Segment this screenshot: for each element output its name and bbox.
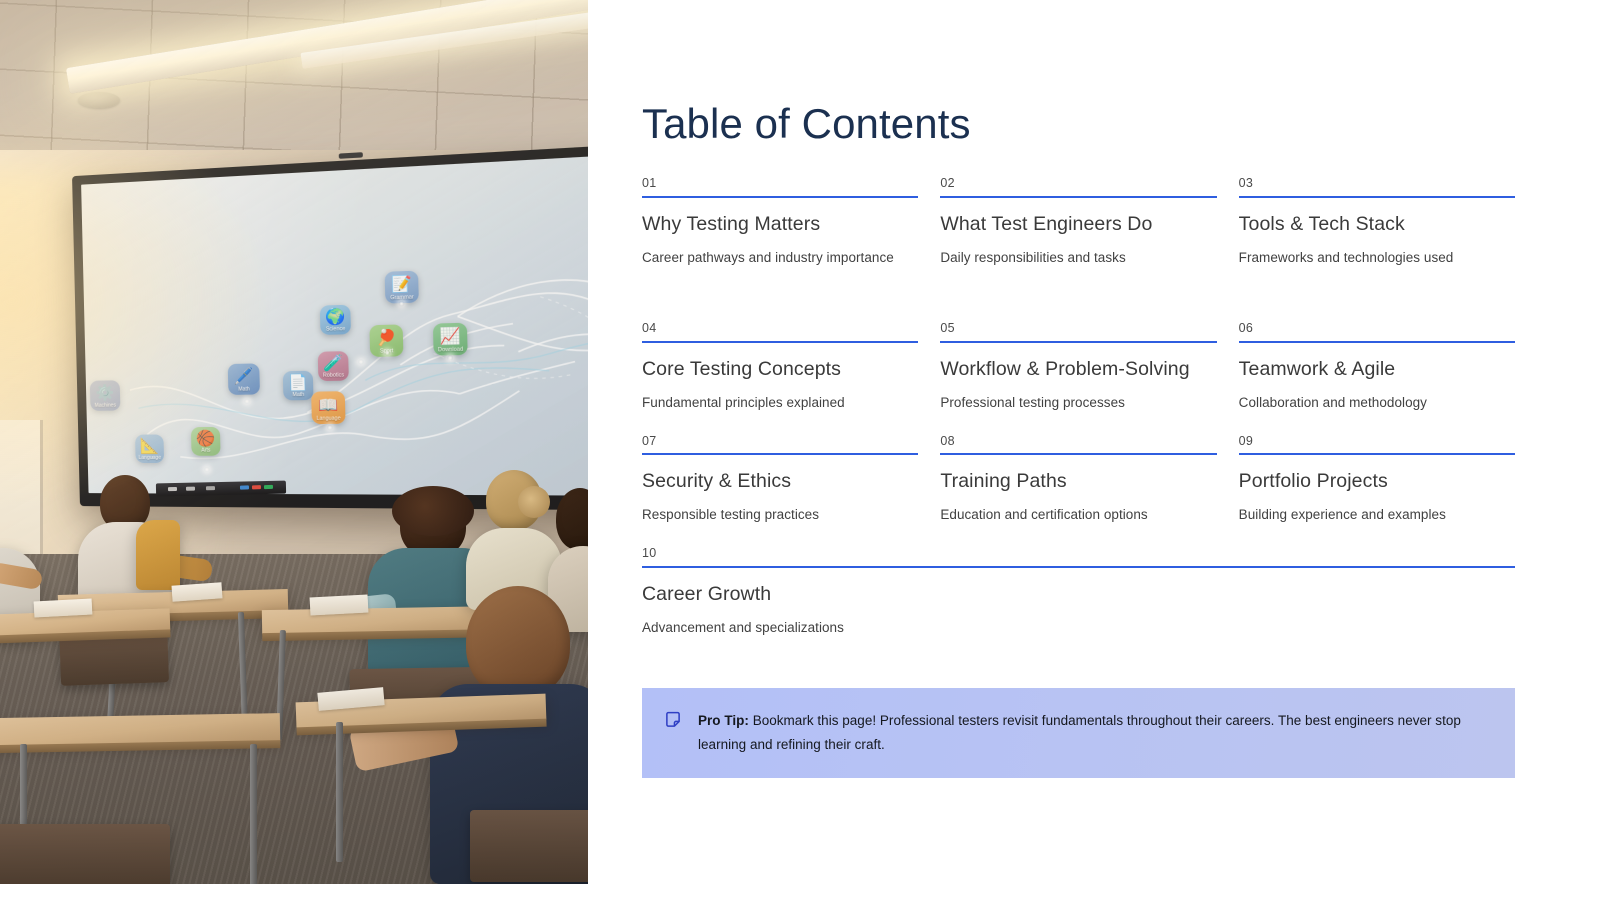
- table-of-contents-grid: 01 Why Testing Matters Career pathways a…: [642, 177, 1515, 659]
- toc-description: Collaboration and methodology: [1239, 381, 1515, 410]
- toc-heading: Core Testing Concepts: [642, 343, 918, 381]
- sparkle: [447, 355, 453, 360]
- toc-description: Career pathways and industry importance: [642, 236, 918, 265]
- desk-leg: [336, 722, 343, 862]
- toc-row: 04 Core Testing Concepts Fundamental pri…: [642, 322, 1515, 410]
- toc-row: 07 Security & Ethics Responsible testing…: [642, 435, 1515, 523]
- ceiling-speaker: [78, 92, 120, 108]
- toc-item-10[interactable]: 10 Career Growth Advancement and special…: [642, 547, 1515, 635]
- bookmark-note-icon: [664, 711, 682, 729]
- content-panel: Table of Contents 01 Why Testing Matters…: [642, 0, 1600, 900]
- toc-description: Frameworks and technologies used: [1239, 236, 1515, 265]
- smartboard: ⚙️Machines 📐Language 🏀Arts 🖊️Math 📄Math …: [72, 141, 588, 511]
- pro-tip-callout: Pro Tip: Bookmark this page! Professiona…: [642, 688, 1515, 778]
- toc-heading: Why Testing Matters: [642, 198, 918, 236]
- toc-description: Advancement and specializations: [642, 606, 1515, 635]
- toc-number: 08: [940, 435, 1216, 454]
- pro-tip-body: Bookmark this page! Professional testers…: [698, 713, 1461, 752]
- page-title: Table of Contents: [642, 100, 971, 148]
- toc-item-08[interactable]: 08 Training Paths Education and certific…: [940, 435, 1216, 523]
- toc-number: 02: [940, 177, 1216, 196]
- toc-heading: Workflow & Problem-Solving: [940, 343, 1216, 381]
- toc-description: Building experience and examples: [1239, 493, 1515, 522]
- classroom-photo: ⚙️Machines 📐Language 🏀Arts 🖊️Math 📄Math …: [0, 0, 588, 884]
- toc-item-04[interactable]: 04 Core Testing Concepts Fundamental pri…: [642, 322, 918, 410]
- toc-item-03[interactable]: 03 Tools & Tech Stack Frameworks and tec…: [1239, 177, 1515, 265]
- desk-leg: [250, 744, 257, 884]
- pro-tip-text: Pro Tip: Bookmark this page! Professiona…: [698, 709, 1493, 758]
- toc-item-06[interactable]: 06 Teamwork & Agile Collaboration and me…: [1239, 322, 1515, 410]
- toc-heading: What Test Engineers Do: [940, 198, 1216, 236]
- toc-number: 09: [1239, 435, 1515, 454]
- toc-description: Education and certification options: [940, 493, 1216, 522]
- toc-description: Fundamental principles explained: [642, 381, 918, 410]
- desk-foreground-left: [0, 713, 280, 747]
- chair-foreground: [470, 810, 588, 882]
- photo-stage: ⚙️Machines 📐Language 🏀Arts 🖊️Math 📄Math …: [0, 0, 588, 884]
- toc-heading: Career Growth: [642, 568, 1515, 606]
- toc-item-09[interactable]: 09 Portfolio Projects Building experienc…: [1239, 435, 1515, 523]
- smartboard-screen: ⚙️Machines 📐Language 🏀Arts 🖊️Math 📄Math …: [81, 152, 588, 496]
- toc-heading: Tools & Tech Stack: [1239, 198, 1515, 236]
- screen-glare: [81, 152, 461, 496]
- toc-item-05[interactable]: 05 Workflow & Problem-Solving Profession…: [940, 322, 1216, 410]
- toc-number: 04: [642, 322, 918, 341]
- toc-number: 10: [642, 547, 1515, 566]
- toc-item-07[interactable]: 07 Security & Ethics Responsible testing…: [642, 435, 918, 523]
- board-node-download: 📈Download: [433, 323, 468, 356]
- slide-root: ⚙️Machines 📐Language 🏀Arts 🖊️Math 📄Math …: [0, 0, 1600, 900]
- toc-number: 06: [1239, 322, 1515, 341]
- toc-heading: Security & Ethics: [642, 455, 918, 493]
- smartboard-pen-tray: [156, 481, 286, 497]
- toc-description: Professional testing processes: [940, 381, 1216, 410]
- chair-foreground-left: [0, 824, 170, 884]
- notebook: [310, 594, 369, 615]
- toc-description: Responsible testing practices: [642, 493, 918, 522]
- toc-number: 05: [940, 322, 1216, 341]
- toc-item-01[interactable]: 01 Why Testing Matters Career pathways a…: [642, 177, 918, 265]
- toc-heading: Portfolio Projects: [1239, 455, 1515, 493]
- toc-item-02[interactable]: 02 What Test Engineers Do Daily responsi…: [940, 177, 1216, 265]
- toc-heading: Teamwork & Agile: [1239, 343, 1515, 381]
- toc-description: Daily responsibilities and tasks: [940, 236, 1216, 265]
- toc-number: 01: [642, 177, 918, 196]
- toc-number: 03: [1239, 177, 1515, 196]
- pro-tip-label: Pro Tip:: [698, 713, 749, 728]
- notebook: [34, 598, 93, 617]
- toc-row: 01 Why Testing Matters Career pathways a…: [642, 177, 1515, 265]
- toc-row: 10 Career Growth Advancement and special…: [642, 547, 1515, 635]
- toc-number: 07: [642, 435, 918, 454]
- toc-heading: Training Paths: [940, 455, 1216, 493]
